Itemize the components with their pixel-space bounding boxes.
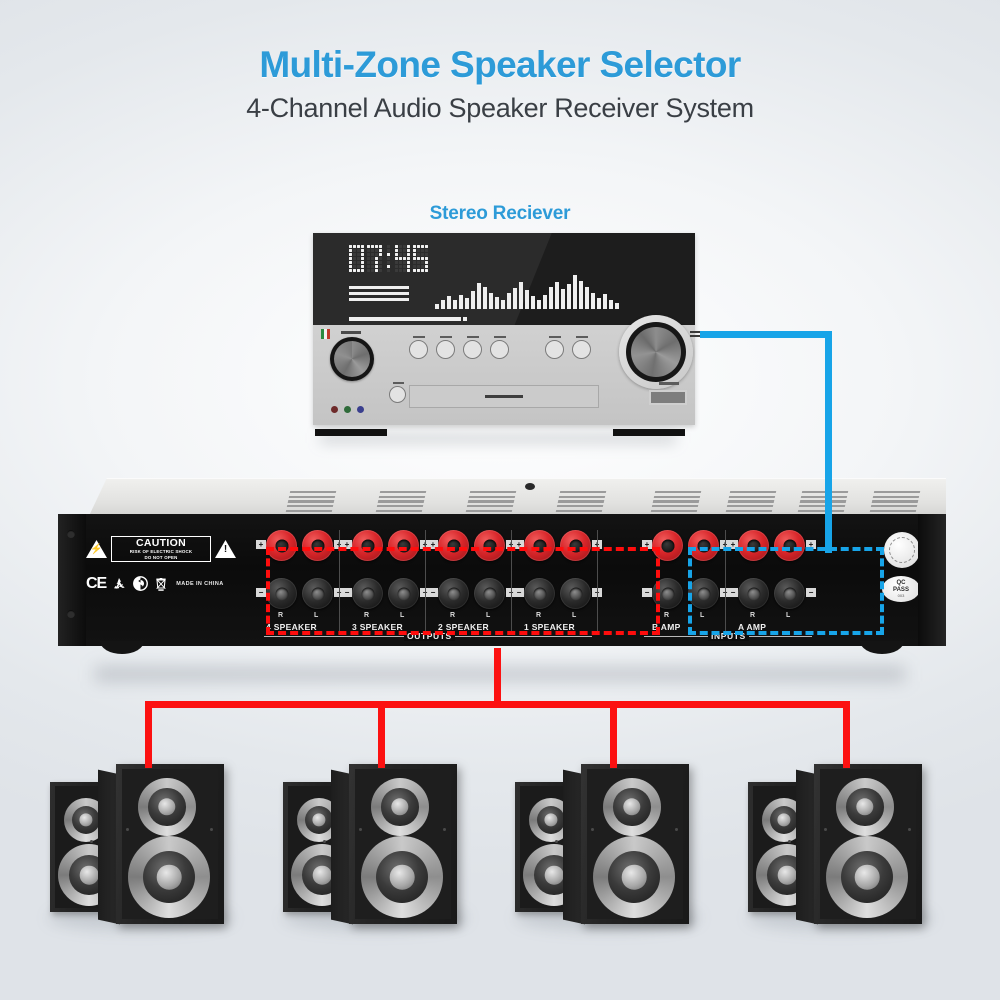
speaker-zone-2 (515, 750, 715, 940)
selector-top-panel (88, 478, 946, 518)
eq-bar (447, 296, 451, 309)
display-info-lines (349, 286, 409, 304)
vent-2 (376, 491, 426, 512)
receiver-knob-5[interactable] (545, 340, 564, 359)
source-knob-tick (341, 331, 361, 334)
polarity-plus: + (256, 540, 266, 549)
power-button[interactable] (389, 386, 406, 403)
receiver-knob-3[interactable] (463, 340, 482, 359)
eq-bar (513, 288, 517, 309)
eq-bar (441, 300, 445, 309)
eq-bar (489, 293, 493, 309)
status-leds (331, 406, 364, 413)
eq-bar (615, 303, 619, 309)
made-in-label: MADE IN CHINA (176, 581, 223, 587)
receiver-button-group-1 (409, 340, 509, 359)
warning-icon: ! (215, 540, 236, 558)
tweeter (836, 778, 894, 836)
panel-screw-right-top (929, 530, 937, 538)
tweeter (603, 778, 661, 836)
flag-icon (321, 329, 330, 339)
qc-sub: 003 (898, 593, 905, 598)
caution-title: CAUTION (114, 538, 208, 549)
top-screw (525, 483, 535, 490)
ce-mark-icon: CE (86, 576, 106, 592)
polarity-minus: − (256, 588, 266, 597)
eq-bar (543, 295, 547, 309)
vent-4 (556, 491, 606, 512)
infographic-stage: Multi-Zone Speaker Selector 4-Channel Au… (0, 0, 1000, 1000)
receiver-display-screen (313, 233, 695, 325)
eq-bar (561, 289, 565, 309)
speaker-zone-1 (748, 750, 948, 940)
eq-bar (597, 298, 601, 309)
speaker-front-box (581, 764, 689, 924)
panel-screw-left-bottom (67, 610, 75, 618)
speaker-front-box (814, 764, 922, 924)
equalizer-bars (435, 273, 619, 309)
woofer (128, 836, 210, 918)
page-title: Multi-Zone Speaker Selector (0, 46, 1000, 85)
channel-label: R (664, 612, 669, 619)
qc-pass-sticker: QC PASS 003 (882, 576, 920, 602)
disc-tray[interactable] (409, 385, 599, 408)
eq-bar (459, 295, 463, 309)
selector-foot-left (100, 641, 144, 654)
eq-bar (573, 275, 577, 309)
eq-bar (471, 291, 475, 309)
tweeter (138, 778, 196, 836)
eq-bar (609, 300, 613, 309)
eq-bar (549, 287, 553, 309)
outputs-highlight-box (266, 547, 660, 635)
eq-bar (603, 294, 607, 309)
speaker-front-box (349, 764, 457, 924)
woofer (361, 836, 443, 918)
blue-cable-horizontal (700, 331, 832, 338)
warranty-seal-sticker (884, 532, 920, 568)
speaker-zone-3 (283, 750, 483, 940)
clock-digit (367, 245, 382, 272)
aux-display (649, 390, 687, 405)
red-cable-drop-3 (610, 701, 617, 768)
weee-bin-icon (154, 576, 168, 592)
vent-5 (651, 491, 701, 512)
blue-cable-vertical (825, 331, 832, 553)
eq-bar (453, 300, 457, 309)
eq-bar (465, 298, 469, 309)
vent-3 (466, 491, 516, 512)
vent-7 (798, 491, 848, 512)
clock-digit (413, 245, 428, 272)
eq-bar (591, 293, 595, 309)
eq-bar (501, 300, 505, 309)
receiver-knob-4[interactable] (490, 340, 509, 359)
eq-bar (579, 281, 583, 309)
panel-screw-left-top (67, 530, 75, 538)
receiver-foot-right (613, 429, 685, 436)
progress-bar (349, 317, 461, 321)
vent-grilles (88, 479, 946, 518)
clock-display (349, 245, 428, 272)
inputs-highlight-box (688, 547, 884, 635)
receiver-knob-2[interactable] (436, 340, 455, 359)
aux-display-tick (659, 382, 679, 385)
red-cable-drop-1 (145, 701, 152, 768)
caution-label-block: ⚡ CAUTION RISK OF ELECTRIC SHOCK DO NOT … (86, 536, 236, 592)
eq-bar (531, 296, 535, 309)
selector-foot-right (860, 641, 904, 654)
page-subtitle: 4-Channel Audio Speaker Receiver System (0, 94, 1000, 122)
green-dot-icon (132, 575, 149, 592)
woofer (826, 836, 908, 918)
red-cable-bus (145, 701, 850, 708)
electric-shock-icon: ⚡ (86, 540, 107, 558)
receiver-knob-6[interactable] (572, 340, 591, 359)
receiver-button-group-2 (545, 340, 591, 359)
eq-bar (537, 300, 541, 309)
eq-bar (555, 282, 559, 309)
speaker-front-box (116, 764, 224, 924)
certification-icons: CE (86, 575, 236, 592)
caution-line-2: DO NOT OPEN (114, 555, 208, 561)
volume-knob[interactable] (619, 315, 693, 389)
eq-bar (585, 287, 589, 309)
stereo-receiver-unit (305, 233, 703, 436)
receiver-knob-1[interactable] (409, 340, 428, 359)
clock-digit (395, 245, 410, 272)
eq-bar (435, 304, 439, 309)
vent-6 (726, 491, 776, 512)
clock-digit (349, 245, 364, 272)
header-block: Multi-Zone Speaker Selector 4-Channel Au… (0, 46, 1000, 122)
source-knob[interactable] (330, 337, 374, 381)
eq-bar (477, 283, 481, 309)
recycle-icon (111, 576, 127, 592)
eq-bar (519, 282, 523, 309)
stereo-receiver-label: Stereo Reciever (0, 203, 1000, 225)
receiver-foot-left (315, 429, 387, 436)
panel-screw-right-bottom (929, 610, 937, 618)
woofer (593, 836, 675, 918)
clock-colon (387, 245, 390, 272)
vent-8 (870, 491, 920, 512)
eq-bar (525, 290, 529, 309)
speaker-zone-4 (50, 750, 250, 940)
vent-1 (286, 491, 336, 512)
eq-bar (495, 297, 499, 309)
tweeter (371, 778, 429, 836)
red-cable-drop-4 (843, 701, 850, 768)
red-cable-drop-2 (378, 701, 385, 768)
eq-bar (483, 287, 487, 309)
red-cable-trunk (494, 648, 501, 707)
eq-bar (567, 284, 571, 309)
eq-bar (507, 293, 511, 309)
